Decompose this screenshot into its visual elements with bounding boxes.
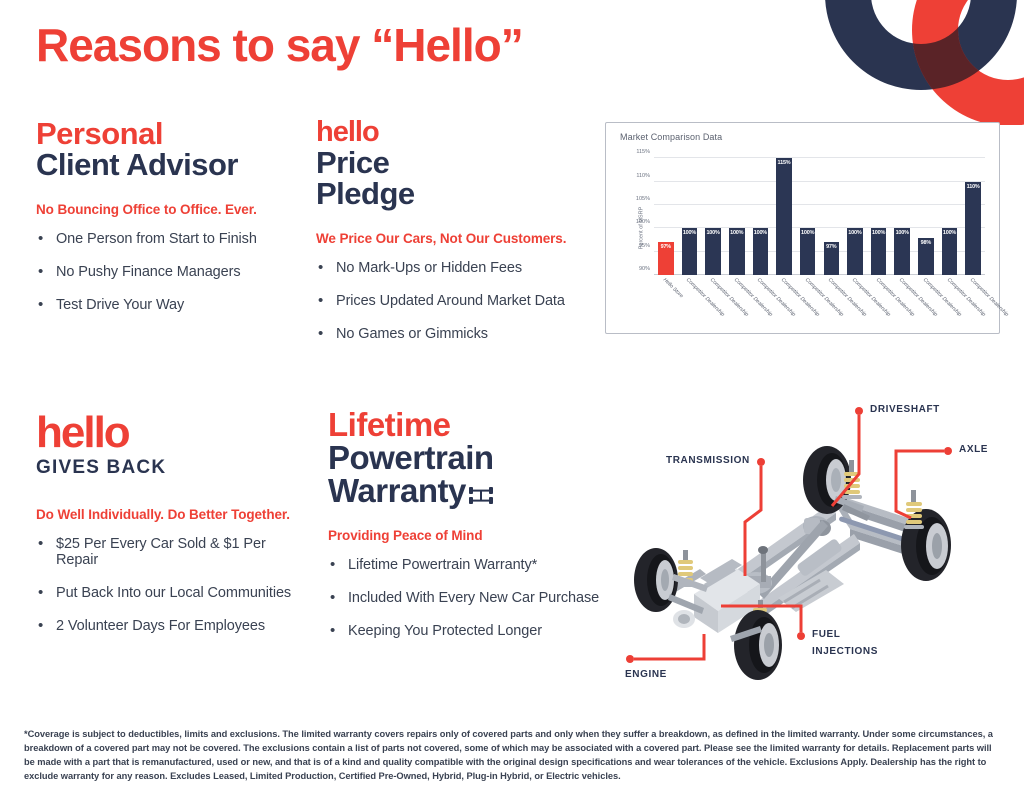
chart-x-label-cell: Competitor Dealership — [961, 275, 985, 329]
chart-bar: 100% — [705, 228, 721, 275]
chart-bar-value-label: 97% — [824, 244, 840, 250]
section-subhead: Providing Peace of Mind — [328, 528, 618, 543]
list-item: $25 Per Every Car Sold & $1 Per Repair — [36, 536, 306, 568]
chart-bar-value-label: 100% — [705, 230, 721, 236]
chart-bar-value-label: 100% — [942, 230, 958, 236]
chart-bar-value-label: 98% — [918, 240, 934, 246]
decorative-rings — [780, 0, 1024, 125]
list-item: Keeping You Protected Longer — [328, 623, 618, 639]
section-title-line1: hello — [36, 412, 306, 454]
chart-x-label-cell: Competitor Dealership — [867, 275, 891, 329]
callout-dot-driveshaft — [855, 407, 863, 415]
chart-plot-area: 90%95%100%105%110%115% 97%100%100%100%10… — [654, 149, 985, 275]
chart-bar: 97% — [658, 242, 674, 275]
section-subhead: We Price Our Cars, Not Our Customers. — [316, 231, 596, 246]
chart-bar: 100% — [800, 228, 816, 275]
chart-bar-cell: 100% — [938, 149, 962, 275]
chart-bar: 100% — [729, 228, 745, 275]
chart-bar-cell: 100% — [701, 149, 725, 275]
chart-bar-cell: 100% — [890, 149, 914, 275]
chart-bar-value-label: 115% — [776, 160, 792, 166]
chart-y-tick: 115% — [636, 149, 650, 155]
chart-bar: 100% — [847, 228, 863, 275]
chart-y-tick: 110% — [636, 173, 650, 179]
section-title-line3: Pledge — [316, 178, 596, 209]
chart-x-tick: Competitor Dealership — [969, 277, 1010, 318]
chart-x-label-cell: Competitor Dealership — [890, 275, 914, 329]
chart-x-label-cell: Competitor Dealership — [796, 275, 820, 329]
list-item: No Pushy Finance Managers — [36, 264, 301, 280]
list-item: No Mark-Ups or Hidden Fees — [316, 260, 596, 276]
section-bullet-list: Lifetime Powertrain Warranty* Included W… — [328, 557, 618, 639]
chart-bar: 98% — [918, 238, 934, 275]
chart-bar-cell: 100% — [749, 149, 773, 275]
chart-bar: 100% — [871, 228, 887, 275]
callout-label-driveshaft: DRIVESHAFT — [870, 404, 940, 415]
chart-bar: 100% — [894, 228, 910, 275]
section-title: Lifetime Powertrain Warranty — [328, 408, 618, 510]
section-title-line2: Client Advisor — [36, 149, 301, 180]
chart-bar-value-label: 100% — [682, 230, 698, 236]
list-item: One Person from Start to Finish — [36, 231, 301, 247]
chassis-diagram: DRIVESHAFT AXLE TRANSMISSION FUEL INJECT… — [608, 398, 1008, 690]
section-title-line1: Lifetime — [328, 408, 618, 441]
section-bullet-list: No Mark-Ups or Hidden Fees Prices Update… — [316, 260, 596, 342]
chart-title: Market Comparison Data — [620, 132, 722, 142]
spring-rear-right — [904, 490, 924, 529]
footnote-disclaimer: *Coverage is subject to deductibles, lim… — [24, 727, 1002, 784]
section-title-line1: Personal — [36, 118, 301, 149]
section-hello-price-pledge: hello Price Pledge We Price Our Cars, No… — [316, 118, 596, 359]
chart-bar-value-label: 97% — [658, 244, 674, 250]
chart-bar-cell: 97% — [819, 149, 843, 275]
chart-bar-cell: 110% — [961, 149, 985, 275]
callout-label-fuel-injections-line2: INJECTIONS — [812, 646, 878, 657]
section-personal-client-advisor: Personal Client Advisor No Bouncing Offi… — [36, 118, 301, 330]
section-title-line3: Warranty — [328, 472, 466, 509]
chart-x-label-cell: Competitor Dealership — [701, 275, 725, 329]
chart-x-label-cell: Competitor Dealership — [772, 275, 796, 329]
chart-bar-cell: 97% — [654, 149, 678, 275]
chart-x-label-cell: Competitor Dealership — [843, 275, 867, 329]
chart-bar: 115% — [776, 158, 792, 275]
section-title-line2: Powertrain — [328, 441, 618, 474]
chart-bar-value-label: 100% — [871, 230, 887, 236]
chart-bars: 97%100%100%100%100%115%100%97%100%100%10… — [654, 149, 985, 275]
chart-bar-cell: 100% — [843, 149, 867, 275]
chart-x-label-cell: Competitor Dealership — [819, 275, 843, 329]
chart-bar: 97% — [824, 242, 840, 275]
list-item: 2 Volunteer Days For Employees — [36, 618, 306, 634]
section-bullet-list: $25 Per Every Car Sold & $1 Per Repair P… — [36, 536, 306, 634]
list-item: No Games or Gimmicks — [316, 326, 596, 342]
rings-svg — [780, 0, 1024, 125]
chart-bar: 100% — [682, 228, 698, 275]
red-ring — [780, 0, 1024, 125]
chart-x-label-cell: Competitor Dealership — [725, 275, 749, 329]
chart-y-tick: 100% — [636, 219, 650, 225]
callout-label-axle: AXLE — [959, 444, 988, 455]
callout-label-transmission: TRANSMISSION — [666, 455, 750, 466]
chart-bar-value-label: 100% — [800, 230, 816, 236]
section-title: hello GIVES BACK — [36, 412, 306, 477]
chart-x-label-cell: Competitor Dealership — [678, 275, 702, 329]
chart-x-label-cell: Competitor Dealership — [749, 275, 773, 329]
list-item: Prices Updated Around Market Data — [316, 293, 596, 309]
chart-bar-cell: 100% — [796, 149, 820, 275]
chart-bar-cell: 98% — [914, 149, 938, 275]
chart-bar-value-label: 100% — [729, 230, 745, 236]
callout-dot-engine — [626, 655, 634, 663]
section-title-line1: hello — [316, 118, 596, 147]
list-item: Lifetime Powertrain Warranty* — [328, 557, 618, 573]
wheel-front-left — [634, 548, 678, 612]
callout-dot-axle — [944, 447, 952, 455]
chart-x-label-cell: Hello Store — [654, 275, 678, 329]
chart-y-tick: 95% — [639, 243, 650, 249]
wheel-front-right — [734, 610, 782, 680]
chart-y-tick: 90% — [639, 266, 650, 272]
chart-bar-value-label: 100% — [847, 230, 863, 236]
callout-label-engine: ENGINE — [625, 669, 667, 680]
section-subhead: Do Well Individually. Do Better Together… — [36, 507, 306, 522]
chart-bar-cell: 100% — [867, 149, 891, 275]
chart-x-label-cell: Competitor Dealership — [938, 275, 962, 329]
chassis-svg — [608, 398, 1008, 690]
axle-chassis-icon — [468, 477, 494, 510]
chart-x-axis-labels: Hello StoreCompetitor DealershipCompetit… — [654, 275, 985, 329]
ring-overlap — [780, 0, 1024, 125]
chart-bar: 100% — [942, 228, 958, 275]
chart-bar-cell: 115% — [772, 149, 796, 275]
section-hello-gives-back: hello GIVES BACK Do Well Individually. D… — [36, 412, 306, 651]
chart-x-label-cell: Competitor Dealership — [914, 275, 938, 329]
chart-bar-cell: 100% — [725, 149, 749, 275]
callout-label-fuel-injections-line1: FUEL — [812, 629, 841, 640]
list-item: Put Back Into our Local Communities — [36, 585, 306, 601]
section-title-line2: Price — [316, 147, 596, 178]
section-title: hello Price Pledge — [316, 118, 596, 209]
chart-bar-cell: 100% — [678, 149, 702, 275]
navy-ring — [780, 0, 1024, 125]
chart-bar: 110% — [965, 182, 981, 275]
section-title-line2: GIVES BACK — [36, 458, 306, 477]
page-title: Reasons to say “Hello” — [36, 18, 523, 72]
poster-page: Reasons to say “Hello” Personal Client A… — [0, 0, 1024, 804]
list-item: Test Drive Your Way — [36, 297, 301, 313]
section-subhead: No Bouncing Office to Office. Ever. — [36, 202, 301, 217]
chart-bar: 100% — [753, 228, 769, 275]
callout-dot-fuel-injections — [797, 632, 805, 640]
market-comparison-chart-card: Market Comparison Data Percent of MSRP 9… — [605, 122, 1000, 334]
callout-dot-transmission — [757, 458, 765, 466]
list-item: Included With Every New Car Purchase — [328, 590, 618, 606]
chart-bar-value-label: 100% — [753, 230, 769, 236]
section-bullet-list: One Person from Start to Finish No Pushy… — [36, 231, 301, 313]
chart-y-tick: 105% — [636, 196, 650, 202]
section-lifetime-powertrain-warranty: Lifetime Powertrain Warranty Providing P… — [328, 408, 618, 656]
chart-bar-value-label: 100% — [894, 230, 910, 236]
chart-bar-value-label: 110% — [965, 184, 981, 190]
wheel-rear-right — [901, 509, 951, 581]
section-title: Personal Client Advisor — [36, 118, 301, 180]
